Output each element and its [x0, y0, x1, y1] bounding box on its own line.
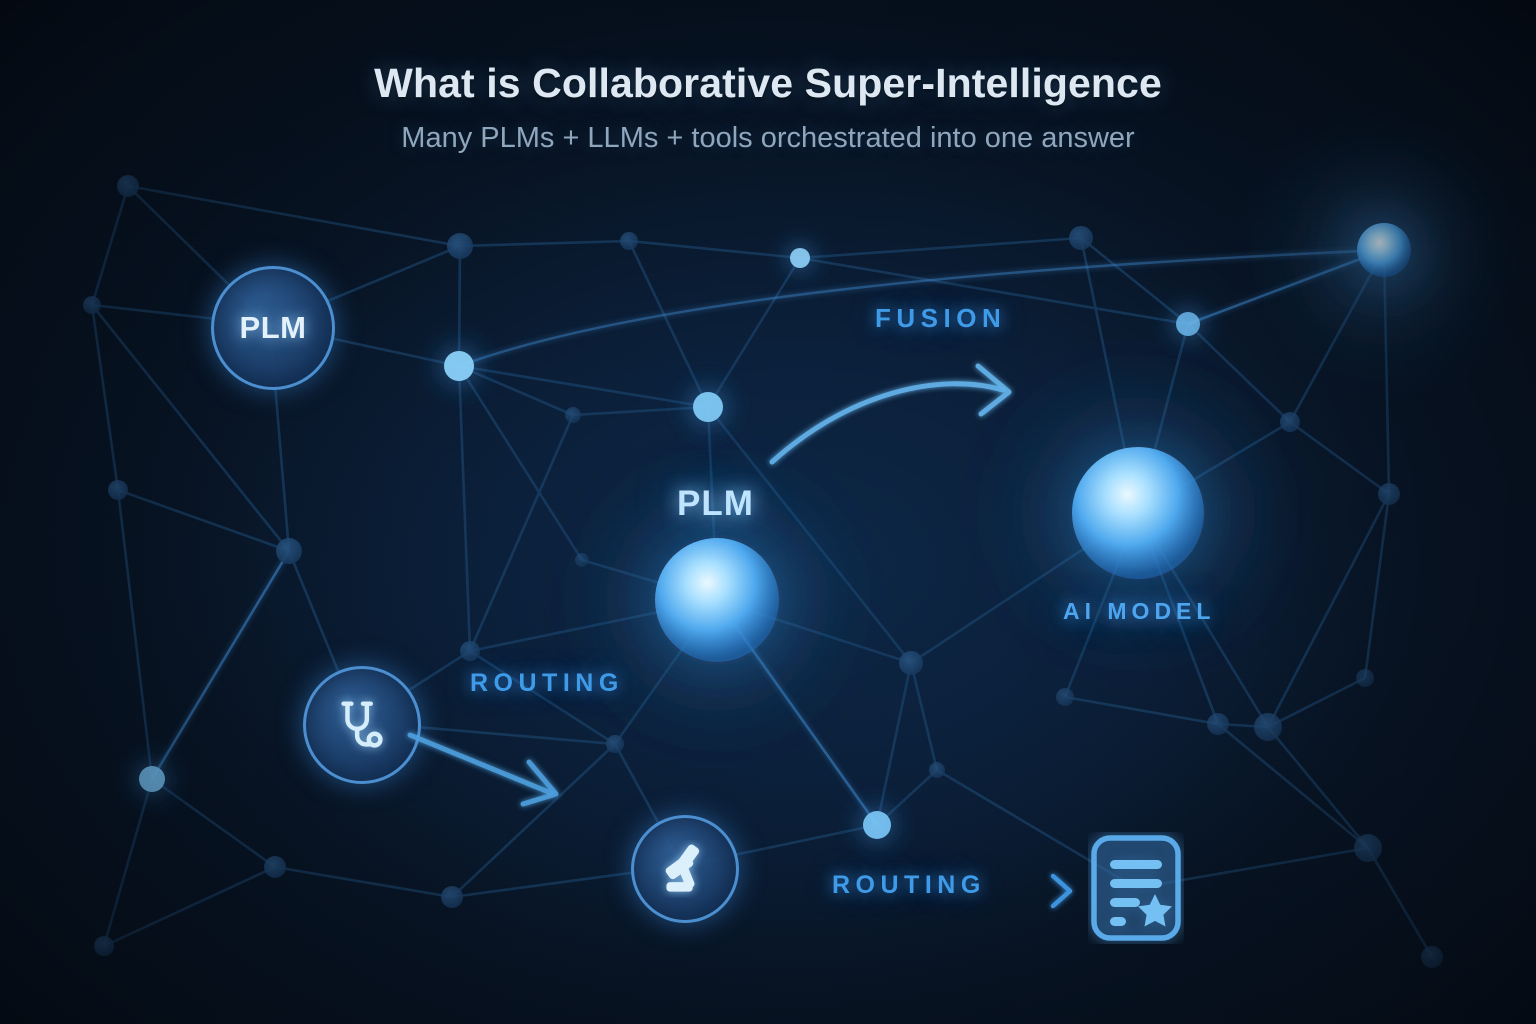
label-plm-center: PLM	[677, 484, 754, 524]
label-routing-bottom: ROUTING	[832, 871, 986, 900]
page-title: What is Collaborative Super-Intelligence	[0, 60, 1536, 107]
label-fusion: FUSION	[875, 303, 1006, 334]
label-routing-left: ROUTING	[470, 669, 624, 698]
routing-arrow-bottom	[1021, 876, 1070, 906]
fusion-arrow	[772, 366, 1009, 462]
page-subtitle: Many PLMs + LLMs + tools orchestrated in…	[0, 121, 1536, 156]
infographic-canvas: What is Collaborative Super-Intelligence…	[0, 0, 1536, 1024]
routing-arrow-left	[410, 735, 556, 804]
label-ai-model: AI MODEL	[1063, 598, 1215, 625]
header-block: What is Collaborative Super-Intelligence…	[0, 60, 1536, 156]
